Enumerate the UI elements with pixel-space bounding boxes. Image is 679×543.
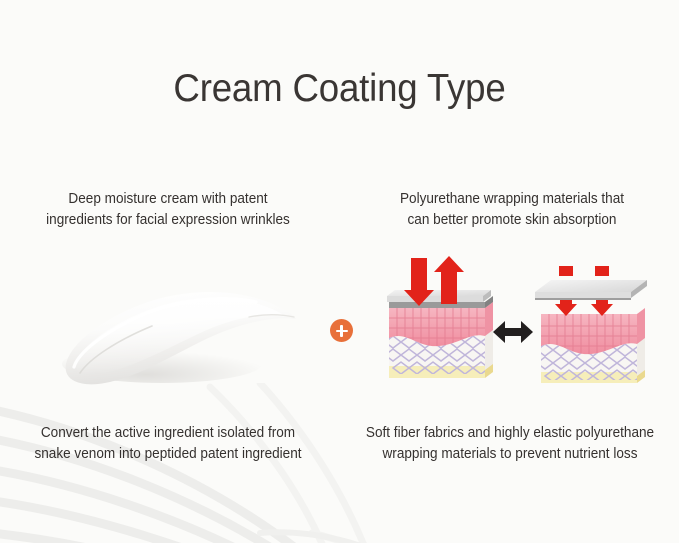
caption-bottom-left: Convert the active ingredient isolated f… <box>19 423 317 465</box>
skin-cross-section-absorption-icon <box>381 252 493 392</box>
caption-top-left-line1: Deep moisture cream with patent <box>19 189 317 210</box>
caption-bottom-left-line1: Convert the active ingredient isolated f… <box>19 423 317 444</box>
caption-bottom-right-line2: wrapping materials to prevent nutrient l… <box>356 444 665 465</box>
caption-top-right: Polyurethane wrapping materials that can… <box>363 189 661 231</box>
caption-bottom-right-line1: Soft fiber fabrics and highly elastic po… <box>356 423 665 444</box>
caption-top-left-line2: ingredients for facial expression wrinkl… <box>19 210 317 231</box>
double-headed-arrow-icon <box>491 316 535 348</box>
caption-top-right-line1: Polyurethane wrapping materials that <box>363 189 661 210</box>
caption-top-left: Deep moisture cream with patent ingredie… <box>19 189 317 231</box>
plus-circle-icon <box>330 319 353 342</box>
slide-canvas: Cream Coating Type Deep moisture cream w… <box>0 0 679 543</box>
skin-cross-section-wrapping-icon <box>531 252 651 392</box>
page-title: Cream Coating Type <box>20 66 658 112</box>
cream-swatch-image <box>44 272 312 388</box>
caption-bottom-left-line2: snake venom into peptided patent ingredi… <box>19 444 317 465</box>
caption-top-right-line2: can better promote skin absorption <box>363 210 661 231</box>
caption-bottom-right: Soft fiber fabrics and highly elastic po… <box>356 423 665 465</box>
